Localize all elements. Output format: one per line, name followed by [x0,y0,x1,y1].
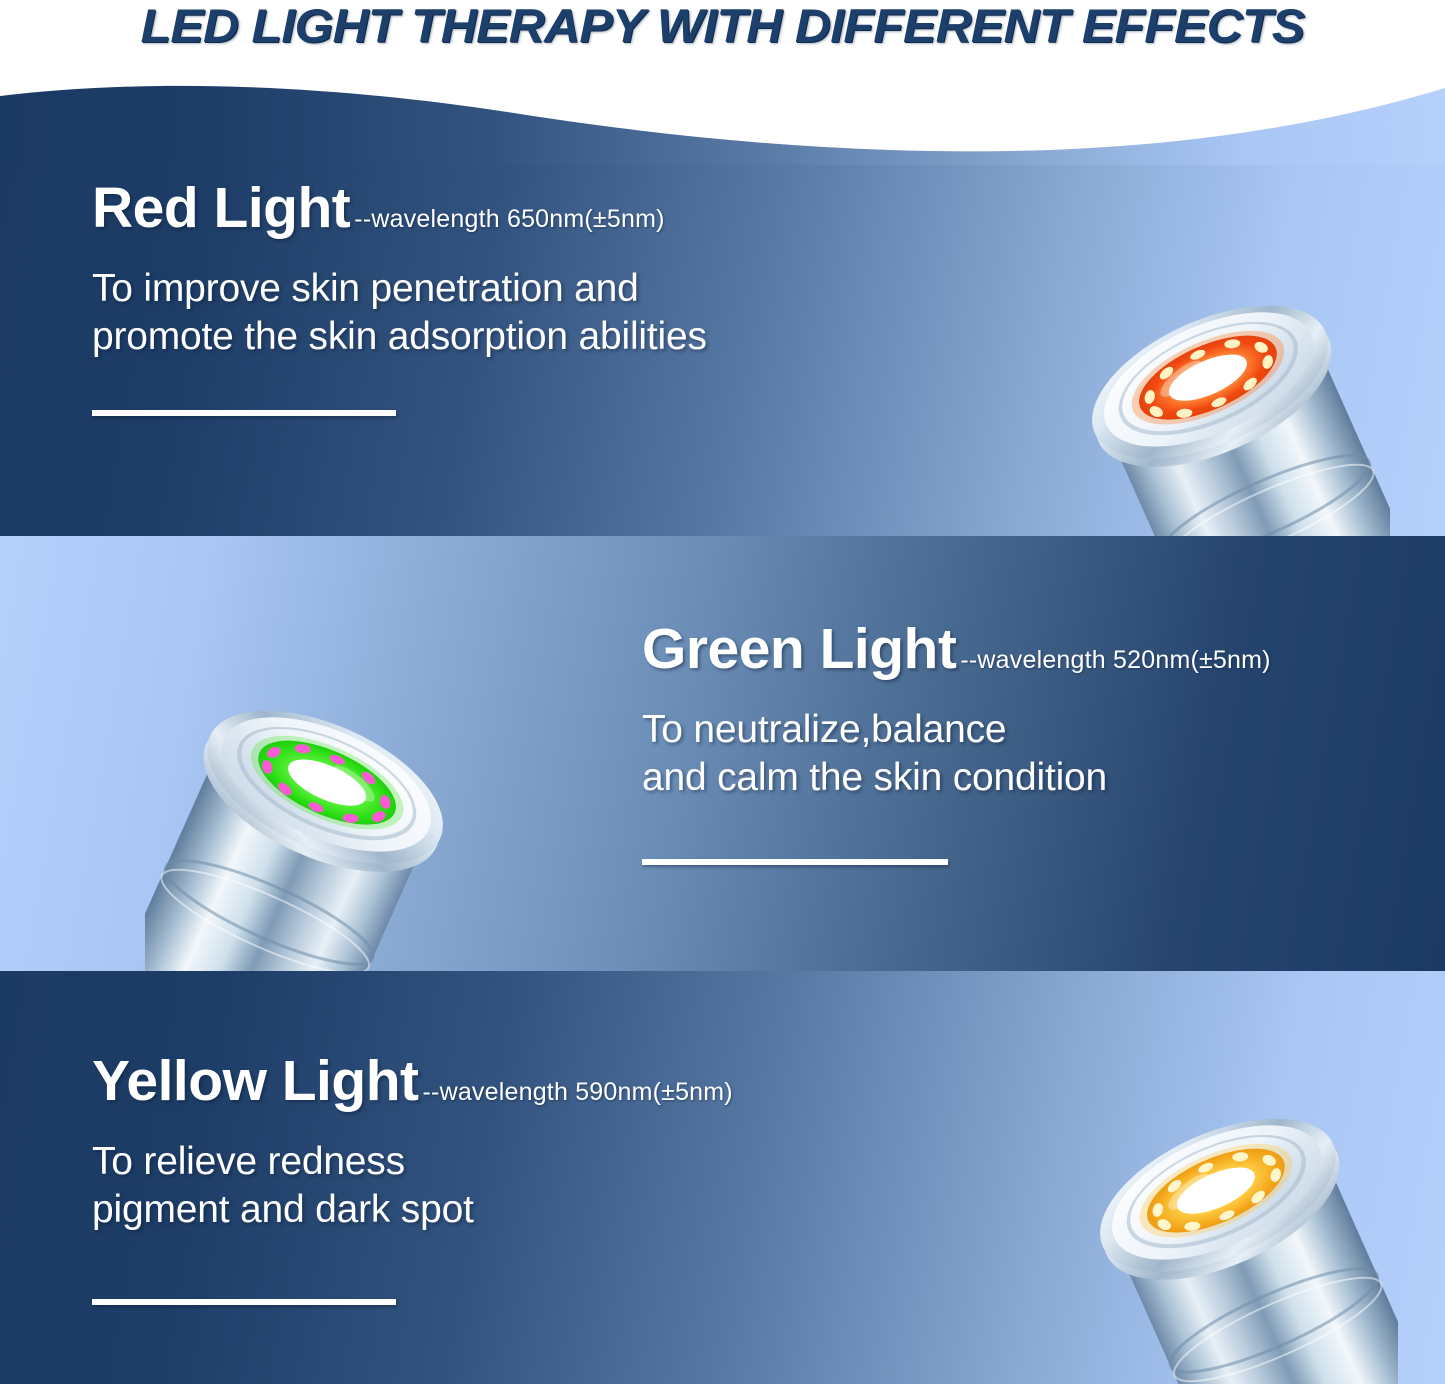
heading-red: Red Light [92,180,350,237]
divider-rule-red [92,410,396,416]
page-title: LED LIGHT THERAPY WITH DIFFERENT EFFECTS [0,0,1445,53]
wavelength-yellow: --wavelength 590nm(±5nm) [423,1078,733,1107]
description-green-line1: To neutralize,balance [642,706,1271,754]
description-red-line1: To improve skin penetration and [92,265,707,313]
heading-row-red: Red Light --wavelength 650nm(±5nm) [92,180,707,237]
description-yellow: To relieve redness pigment and dark spot [92,1138,733,1233]
divider-rule-yellow [92,1299,396,1305]
heading-green: Green Light [642,621,956,678]
header-wave-divider [0,70,1445,165]
description-red: To improve skin penetration and promote … [92,265,707,360]
section-green-light: Green Light --wavelength 520nm(±5nm) To … [0,536,1445,971]
text-block-yellow: Yellow Light --wavelength 590nm(±5nm) To… [92,1053,733,1305]
wavelength-red: --wavelength 650nm(±5nm) [354,205,664,234]
led-ring-device-red-icon [1060,216,1390,536]
led-ring-device-green-icon [145,621,475,971]
header-banner: LED LIGHT THERAPY WITH DIFFERENT EFFECTS [0,0,1445,155]
led-ring-device-yellow-icon [1068,1029,1398,1384]
wavelength-green: --wavelength 520nm(±5nm) [960,646,1270,675]
led-therapy-infographic: Red Light --wavelength 650nm(±5nm) To im… [0,0,1445,1384]
text-block-green: Green Light --wavelength 520nm(±5nm) To … [642,621,1271,865]
divider-rule-green [642,859,948,865]
section-yellow-light: Yellow Light --wavelength 590nm(±5nm) To… [0,971,1445,1384]
heading-row-green: Green Light --wavelength 520nm(±5nm) [642,621,1271,678]
description-green: To neutralize,balance and calm the skin … [642,706,1271,801]
heading-yellow: Yellow Light [92,1053,419,1110]
description-yellow-line1: To relieve redness [92,1138,733,1186]
description-yellow-line2: pigment and dark spot [92,1186,733,1234]
text-block-red: Red Light --wavelength 650nm(±5nm) To im… [92,180,707,416]
description-red-line2: promote the skin adsorption abilities [92,313,707,361]
heading-row-yellow: Yellow Light --wavelength 590nm(±5nm) [92,1053,733,1110]
description-green-line2: and calm the skin condition [642,754,1271,802]
